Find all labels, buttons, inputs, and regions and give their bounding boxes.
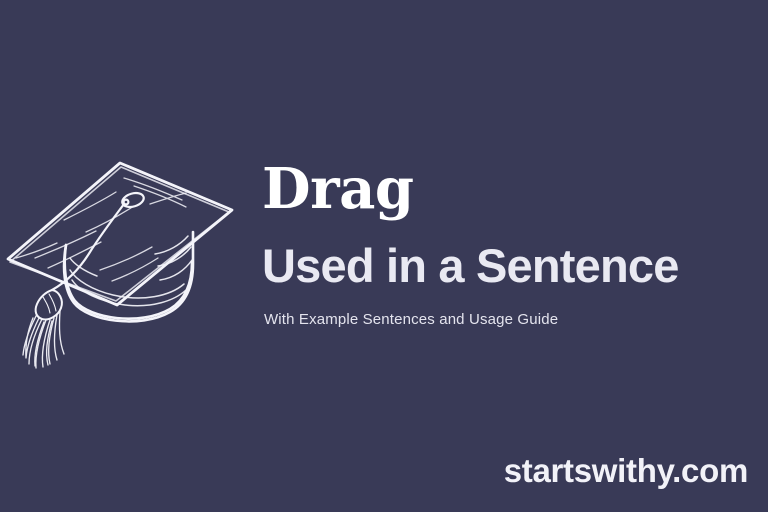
tassel-head	[36, 290, 62, 319]
word-definition-banner: Drag Used in a Sentence With Example Sen…	[0, 0, 768, 512]
graduation-cap-icon	[0, 140, 240, 375]
site-brand: startswithy.com	[504, 452, 748, 490]
mortarboard-button	[121, 191, 146, 210]
page-title: Drag	[262, 158, 762, 220]
headline: Used in a Sentence	[262, 238, 762, 294]
banner-text-block: Drag Used in a Sentence With Example Sen…	[262, 158, 762, 330]
subtitle: With Example Sentences and Usage Guide	[264, 310, 762, 330]
mortarboard-board	[8, 163, 232, 305]
